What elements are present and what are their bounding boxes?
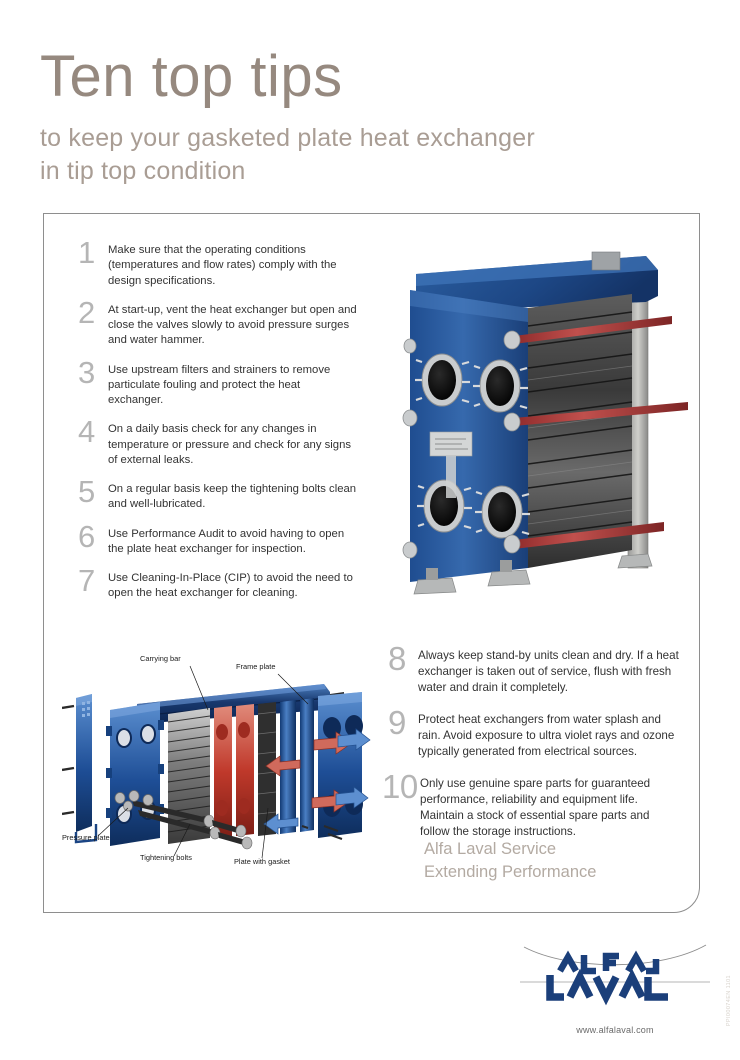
tip-text: At start-up, vent the heat exchanger but… — [108, 303, 358, 349]
page-title: Ten top tips — [40, 48, 680, 106]
tip-text: Make sure that the operating conditions … — [108, 243, 358, 289]
page-subtitle-line-1: to keep your gasketed plate heat exchang… — [40, 122, 680, 155]
page-header: Ten top tips to keep your gasketed plate… — [40, 48, 680, 188]
tip-number: 2 — [78, 299, 108, 328]
list-item: 5 On a regular basis keep the tightening… — [78, 482, 358, 513]
diagram-label-frame-plate: Frame plate — [236, 662, 275, 671]
tip-text: Use upstream filters and strainers to re… — [108, 363, 358, 409]
tip-text: Always keep stand-by units clean and dry… — [418, 648, 680, 696]
list-item: 6 Use Performance Audit to avoid having … — [78, 527, 358, 558]
service-tagline-line-1: Alfa Laval Service — [424, 838, 704, 861]
tip-number: 8 — [388, 644, 418, 674]
product-photo-heat-exchanger — [396, 250, 692, 595]
tip-number: 4 — [78, 418, 108, 447]
tip-text: Only use genuine spare parts for guarant… — [420, 776, 680, 840]
tip-text: On a regular basis keep the tightening b… — [108, 482, 358, 513]
service-tagline: Alfa Laval Service Extending Performance — [424, 838, 704, 885]
tip-number: 1 — [78, 239, 108, 268]
tip-text: Protect heat exchangers from water splas… — [418, 712, 680, 760]
list-item: 10 Only use genuine spare parts for guar… — [388, 776, 680, 840]
tip-number: 7 — [78, 567, 108, 596]
logo-website-url: www.alfalaval.com — [520, 1025, 710, 1035]
diagram-label-pressure-plate: Pressure plate — [62, 833, 110, 842]
tips-list-left: 1 Make sure that the operating condition… — [78, 243, 358, 616]
tip-text: On a daily basis check for any changes i… — [108, 422, 358, 468]
tip-number: 5 — [78, 478, 108, 507]
list-item: 3 Use upstream filters and strainers to … — [78, 363, 358, 409]
alfa-laval-logo-block: www.alfalaval.com — [520, 935, 710, 1035]
tip-text: Use Performance Audit to avoid having to… — [108, 527, 358, 558]
tip-number: 10 — [382, 772, 420, 802]
document-reference-code: PPI00074EN 1101 — [726, 975, 732, 1026]
diagram-label-carrying-bar: Carrying bar — [140, 654, 181, 663]
tip-number: 3 — [78, 359, 108, 388]
list-item: 7 Use Cleaning-In-Place (CIP) to avoid t… — [78, 571, 358, 602]
tip-number: 6 — [78, 523, 108, 552]
list-item: 1 Make sure that the operating condition… — [78, 243, 358, 289]
list-item: 2 At start-up, vent the heat exchanger b… — [78, 303, 358, 349]
tip-text: Use Cleaning-In-Place (CIP) to avoid the… — [108, 571, 358, 602]
exploded-diagram-plate-heat-exchanger: Carrying bar Frame plate Pressure plate … — [62, 648, 380, 880]
list-item: 4 On a daily basis check for any changes… — [78, 422, 358, 468]
tips-list-right: 8 Always keep stand-by units clean and d… — [388, 648, 680, 856]
diagram-label-plate-with-gasket: Plate with gasket — [234, 857, 290, 866]
list-item: 8 Always keep stand-by units clean and d… — [388, 648, 680, 696]
page-subtitle-line-2: in tip top condition — [40, 155, 680, 188]
diagram-label-tightening-bolts: Tightening bolts — [140, 853, 192, 862]
tip-number: 9 — [388, 708, 418, 738]
list-item: 9 Protect heat exchangers from water spl… — [388, 712, 680, 760]
alfa-laval-logo-icon — [520, 935, 710, 1015]
page-subtitle: to keep your gasketed plate heat exchang… — [40, 122, 680, 188]
service-tagline-line-2: Extending Performance — [424, 861, 704, 884]
